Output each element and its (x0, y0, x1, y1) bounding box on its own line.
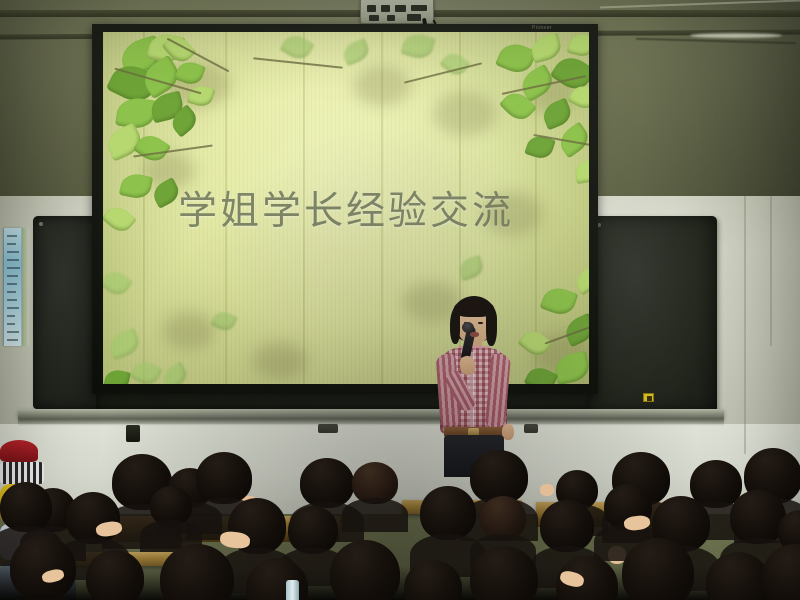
poster-text-line (7, 235, 17, 237)
slide-leaf-shadow (483, 192, 543, 236)
slide-leaf-shadow (253, 342, 307, 380)
audience-head (540, 500, 594, 552)
mount-slot (369, 15, 379, 21)
audience-head (420, 486, 476, 540)
presenter-hair-left (450, 310, 460, 344)
audience-head (160, 544, 234, 600)
projection-screen-frame: Pioneer 学姐学长经验交流 (92, 24, 598, 394)
blackboard-sticker (643, 393, 654, 402)
ivy-leaf (279, 32, 314, 64)
mount-slot (381, 5, 390, 12)
audience-head (196, 452, 252, 504)
poster-text-line (7, 251, 19, 253)
red-cap (0, 440, 38, 462)
poster-text-line (7, 339, 18, 341)
poster-text-line (7, 283, 17, 285)
slide-leaf-shadow (163, 312, 215, 350)
audience-head (0, 482, 52, 532)
ledge-object-b (524, 424, 538, 433)
water-bottle (286, 580, 299, 600)
ivy-leaf (129, 357, 162, 384)
audience-head (10, 536, 76, 600)
ivy-leaf (160, 361, 191, 384)
slide-plank-seam (303, 32, 305, 384)
poster-frame-edge (22, 228, 29, 346)
ivy-leaf (103, 368, 131, 384)
slide-leaf-shadow (353, 66, 411, 106)
ivy-leaf (567, 32, 589, 59)
poster-text-line (7, 291, 16, 293)
poster-text-line (7, 323, 15, 325)
ivy-leaf (115, 96, 157, 131)
audience-shoulders (342, 498, 408, 532)
poster-text-line (7, 267, 20, 269)
ivy-leaf (540, 283, 579, 318)
ivy-branch (253, 57, 343, 68)
mount-slot (387, 15, 395, 21)
ceiling-light-streak (690, 33, 782, 38)
poster-text-line (7, 315, 15, 317)
audience-skin (540, 484, 554, 496)
wall-seam-right (744, 196, 746, 454)
blackboard-right-panel (589, 216, 717, 412)
ivy-leaf (572, 264, 589, 295)
chalk-ledge (18, 409, 724, 419)
presenter-mouth (470, 332, 479, 337)
chalk-ledge-shadow (18, 419, 724, 426)
mount-slot (367, 5, 376, 12)
ivy-leaf (528, 32, 563, 63)
presenter-eye-right (478, 322, 483, 324)
slide-leaf-shadow (433, 92, 497, 136)
striped-shirt (0, 462, 44, 484)
audience-head (300, 458, 354, 508)
ledge-object-a (318, 424, 338, 433)
poster-text-line (7, 243, 16, 245)
wall-poster (3, 228, 22, 346)
screen-brand-label: Pioneer (532, 25, 552, 31)
wall-seam-right-2 (770, 196, 772, 346)
presenter-hair-right (486, 310, 497, 346)
audience-head (330, 540, 400, 600)
classroom-photo: Pioneer 学姐学长经验交流 (0, 0, 800, 600)
audience-head (622, 538, 694, 600)
ivy-leaf (573, 158, 589, 185)
audience-head (86, 550, 144, 600)
ivy-leaf (439, 49, 470, 80)
poster-text-line (7, 275, 18, 277)
poster-text-line (7, 331, 19, 333)
poster-text-line (7, 259, 19, 261)
ivy-leaf (400, 32, 435, 62)
ivy-leaf (103, 266, 133, 299)
audience-head (288, 506, 338, 554)
audience-head (66, 492, 120, 544)
poster-text-line (7, 307, 19, 309)
poster-text-line (7, 299, 17, 301)
ivy-leaf (106, 328, 142, 361)
audience (0, 440, 800, 600)
ivy-leaf (340, 38, 372, 66)
